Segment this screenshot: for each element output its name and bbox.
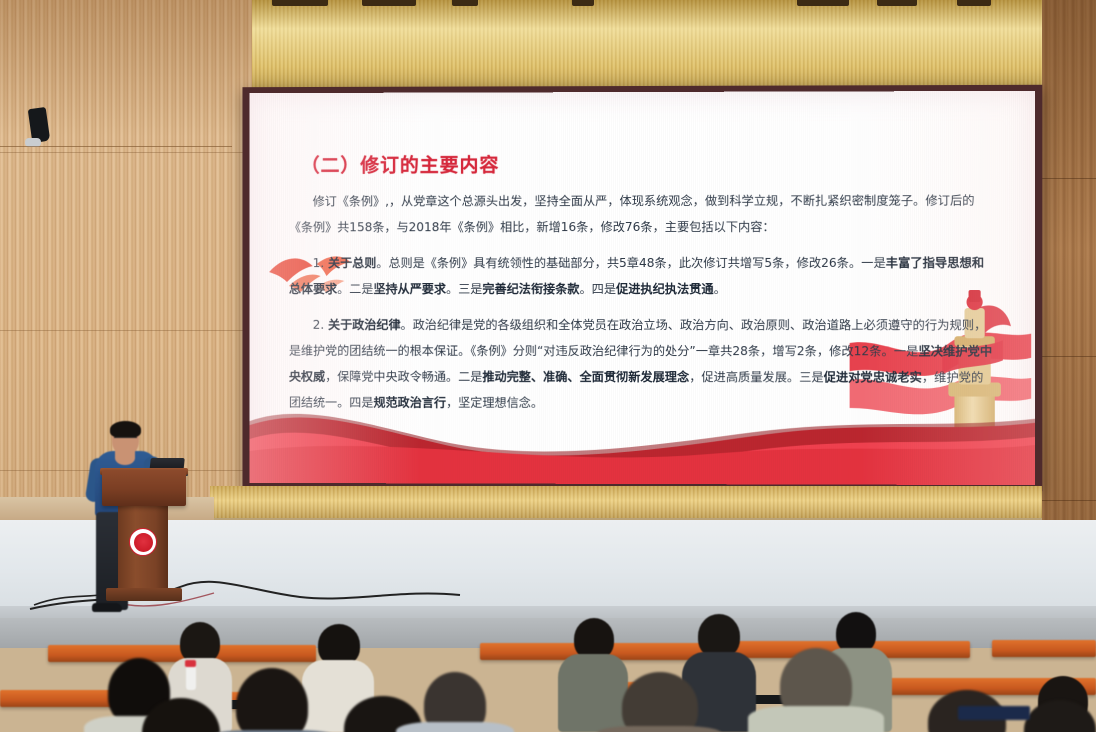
floor-cables (0, 545, 520, 625)
slide-paragraph-item-1: 1. 关于总则。总则是《条例》具有统领性的基础部分，共5章48条，此次修订共增写… (289, 250, 995, 302)
audience-member (558, 654, 628, 732)
slide-paragraph-intro: 修订《条例》,，从党章这个总源头出发，坚持全面从严，体现系统观念，做到科学立规，… (289, 187, 995, 240)
auditorium-scene: （二）修订的主要内容 修订《条例》,，从党章这个总源头出发，坚持全面从严，体现系… (0, 0, 1096, 732)
bench-row-1 (992, 640, 1096, 657)
slide-title: （二）修订的主要内容 (301, 150, 500, 177)
wall-wire (0, 146, 232, 152)
audience-member (748, 706, 884, 732)
slide-paragraph-item-2: 2. 关于政治纪律。政治纪律是党的各级组织和全体党员在政治立场、政治方向、政治原… (289, 312, 995, 417)
bench-row-2 (0, 690, 120, 707)
university-emblem-icon (129, 528, 157, 556)
glasses-icon (114, 437, 137, 442)
bottle-cap (185, 660, 196, 667)
slide-body-text: 修订《条例》,，从党章这个总源头出发，坚持全面从严，体现系统观念，做到科学立规，… (289, 187, 995, 426)
led-screen[interactable]: （二）修订的主要内容 修订《条例》,，从党章这个总源头出发，坚持全面从严，体现系… (249, 91, 1035, 485)
audience-member (622, 672, 698, 732)
audience-member (596, 726, 722, 732)
notebook (958, 706, 1030, 720)
presenter-shoe (92, 603, 122, 612)
audience-member (396, 722, 514, 732)
upper-acoustic-panel (252, 0, 1042, 96)
audience-member (236, 668, 308, 732)
podium-front-panel: 嘉兴大学 (102, 470, 186, 506)
lower-acoustic-panel (210, 486, 1042, 520)
presenter-hair (110, 421, 141, 438)
podium-base (106, 588, 182, 601)
water-bottle (186, 664, 196, 690)
